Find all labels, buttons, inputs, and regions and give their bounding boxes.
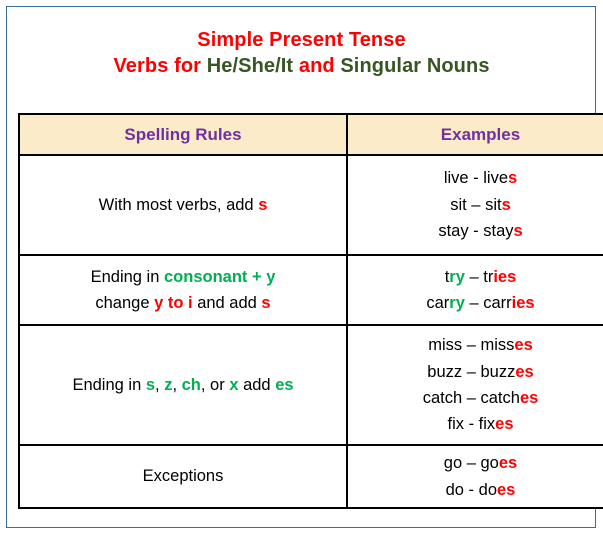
text-fragment: fix - fix [447,415,495,433]
text-fragment: go – go [444,454,499,472]
worksheet-page: Simple Present Tense Verbs for He/She/It… [0,0,603,537]
examples-cell: try – triescarry – carries [347,255,603,325]
text-line: miss – misses [354,332,603,358]
table-row: Ending in s, z, ch, or x add es miss – m… [19,325,603,445]
text-fragment: do - do [446,481,497,499]
text-fragment: Ending in [72,376,145,394]
text-fragment: car [426,294,449,312]
text-line: try – tries [354,264,603,290]
text-fragment: s [508,169,517,187]
spelling-rules-table: Spelling Rules Examples With most verbs,… [18,113,603,509]
text-fragment: sit – sit [450,196,501,214]
text-fragment: With most verbs, add [99,196,259,214]
rule-cell: Exceptions [19,445,347,508]
table-body: With most verbs, add s live - livessit –… [19,155,603,508]
text-fragment: es [275,376,293,394]
text-line: stay - stays [354,218,603,244]
text-fragment: consonant + y [164,268,275,286]
text-fragment: catch – catch [423,389,520,407]
text-fragment: s [258,196,267,214]
text-fragment: – carr [465,294,512,312]
text-fragment: and add [193,294,262,312]
text-line: Ending in consonant + y [26,264,340,290]
text-fragment: es [497,481,515,499]
text-fragment: s [146,376,155,394]
text-fragment: es [495,415,513,433]
text-fragment: ies [493,268,516,286]
text-line: live - lives [354,165,603,191]
text-line: fix - fixes [354,411,603,437]
column-header-spelling-rules: Spelling Rules [19,114,347,155]
title-line-2: Verbs for He/She/It and Singular Nouns [0,53,603,79]
text-fragment: es [514,336,532,354]
text-fragment: add [239,376,276,394]
examples-cell: go – goesdo - does [347,445,603,508]
table-header-row: Spelling Rules Examples [19,114,603,155]
text-fragment: s [261,294,270,312]
rule-cell: Ending in consonant + ychange y to i and… [19,255,347,325]
rule-cell: Ending in s, z, ch, or x add es [19,325,347,445]
text-fragment: buzz – buzz [427,363,515,381]
text-fragment: ry [449,294,465,312]
table-header: Spelling Rules Examples [19,114,603,155]
rule-cell: With most verbs, add s [19,155,347,255]
text-line: go – goes [354,450,603,476]
text-fragment: es [515,363,533,381]
text-line: sit – sits [354,192,603,218]
text-line: change y to i and add s [26,290,340,316]
text-fragment: He/She/It [207,55,299,77]
table-row: With most verbs, add s live - livessit –… [19,155,603,255]
text-fragment: , [155,376,164,394]
text-fragment: x [229,376,238,394]
text-fragment: Singular Nouns [340,55,489,77]
page-title: Simple Present Tense Verbs for He/She/It… [0,27,603,79]
text-line: do - does [354,477,603,503]
text-fragment: – tr [465,268,493,286]
text-fragment: Exceptions [143,467,224,485]
text-fragment: s [514,222,523,240]
text-fragment: miss – miss [428,336,514,354]
text-fragment: , or [201,376,229,394]
text-fragment: stay - stay [438,222,513,240]
text-fragment: change [95,294,154,312]
examples-cell: miss – missesbuzz – buzzescatch – catche… [347,325,603,445]
title-line-1: Simple Present Tense [0,27,603,53]
column-header-examples: Examples [347,114,603,155]
text-fragment: Ending in [91,268,164,286]
text-fragment: Verbs for [113,55,206,77]
text-fragment: , [172,376,181,394]
text-fragment: y to i [154,294,193,312]
text-line: catch – catches [354,385,603,411]
text-fragment: ies [512,294,535,312]
table-row: Exceptions go – goesdo - does [19,445,603,508]
text-fragment: es [499,454,517,472]
table-row: Ending in consonant + ychange y to i and… [19,255,603,325]
text-line: carry – carries [354,290,603,316]
examples-cell: live - livessit – sitsstay - stays [347,155,603,255]
text-fragment: s [502,196,511,214]
text-fragment: and [299,55,341,77]
text-line: buzz – buzzes [354,359,603,385]
text-fragment: ch [182,376,201,394]
text-fragment: live - live [444,169,508,187]
text-fragment: ry [449,268,465,286]
text-fragment: es [520,389,538,407]
